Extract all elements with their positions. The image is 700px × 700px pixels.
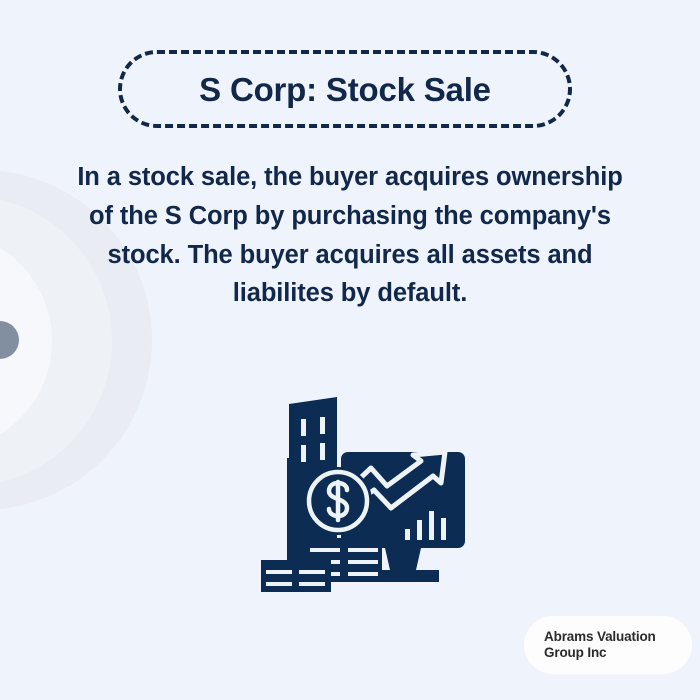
finance-illustration [253, 392, 473, 592]
logo-line-2: Group Inc [544, 645, 692, 661]
body-text-block: In a stock sale, the buyer acquires owne… [70, 158, 630, 313]
body-paragraph: In a stock sale, the buyer acquires owne… [70, 158, 630, 313]
logo-line-1: Abrams Valuation [544, 629, 692, 645]
slide-canvas: S Corp: Stock Sale In a stock sale, the … [0, 0, 700, 700]
logo-badge: Abrams Valuation Group Inc [524, 616, 692, 674]
title-card: S Corp: Stock Sale [118, 50, 572, 128]
coin-stack-icon [261, 538, 382, 592]
page-title: S Corp: Stock Sale [199, 73, 491, 106]
dollar-coin-icon [304, 467, 372, 535]
